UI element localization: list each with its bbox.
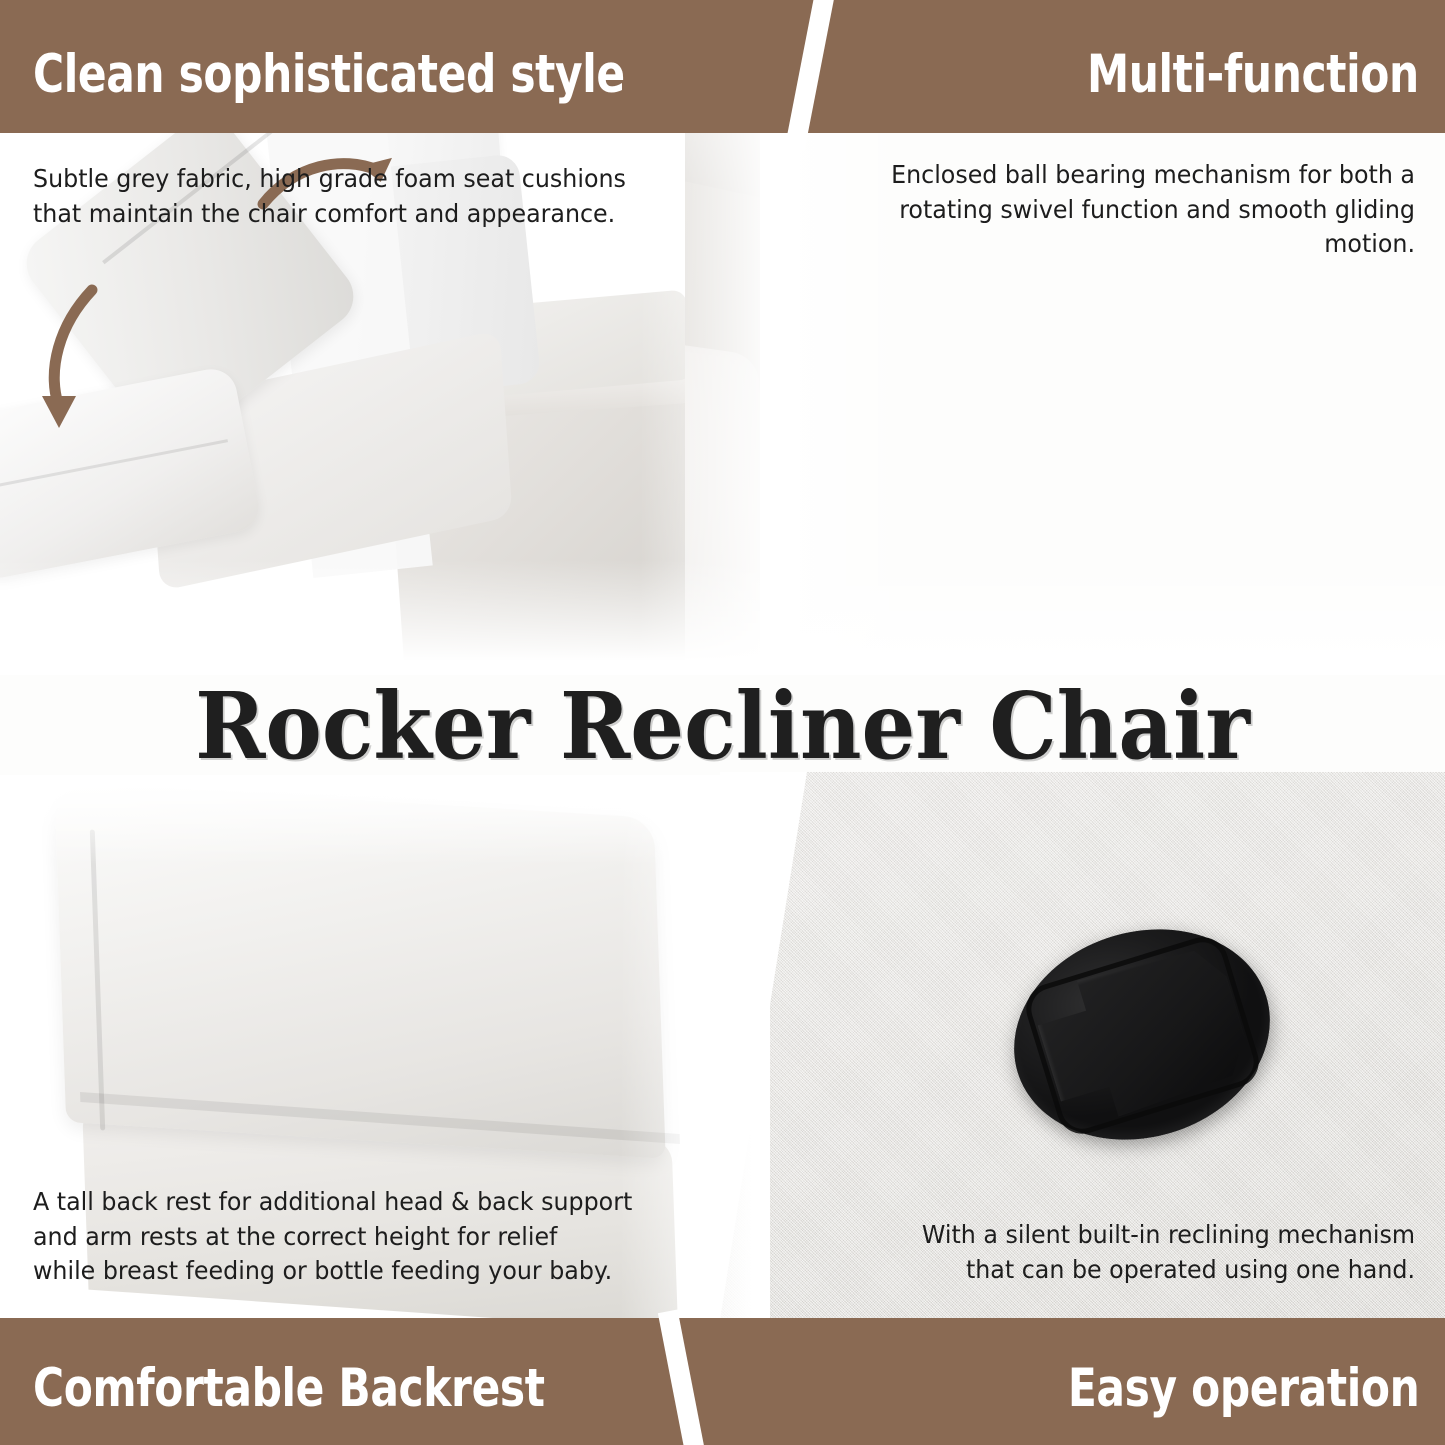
background-chair-sliver [758, 599, 795, 668]
heading-comfortable-backrest: Comfortable Backrest [33, 1358, 545, 1419]
body-copy-easy-operation: With a silent built-in reclining mechani… [826, 1218, 1415, 1287]
heading-easy-operation: Easy operation [1068, 1358, 1419, 1419]
body-copy-comfortable-backrest: A tall back rest for additional head & b… [33, 1185, 641, 1289]
blend-fade-top-right-bottom [760, 560, 1445, 675]
heading-clean-sophisticated-style: Clean sophisticated style [33, 44, 625, 105]
product-title: Rocker Recliner Chair [58, 672, 1387, 780]
product-infographic-poster: Clean sophisticated style Multi-function… [0, 0, 1445, 1445]
curved-arrow-down-icon [28, 278, 138, 438]
heading-multi-function: Multi-function [1087, 44, 1419, 105]
body-copy-multi-function: Enclosed ball bearing mechanism for both… [807, 158, 1415, 262]
body-copy-clean-sophisticated-style: Subtle grey fabric, high grade foam seat… [33, 162, 641, 231]
